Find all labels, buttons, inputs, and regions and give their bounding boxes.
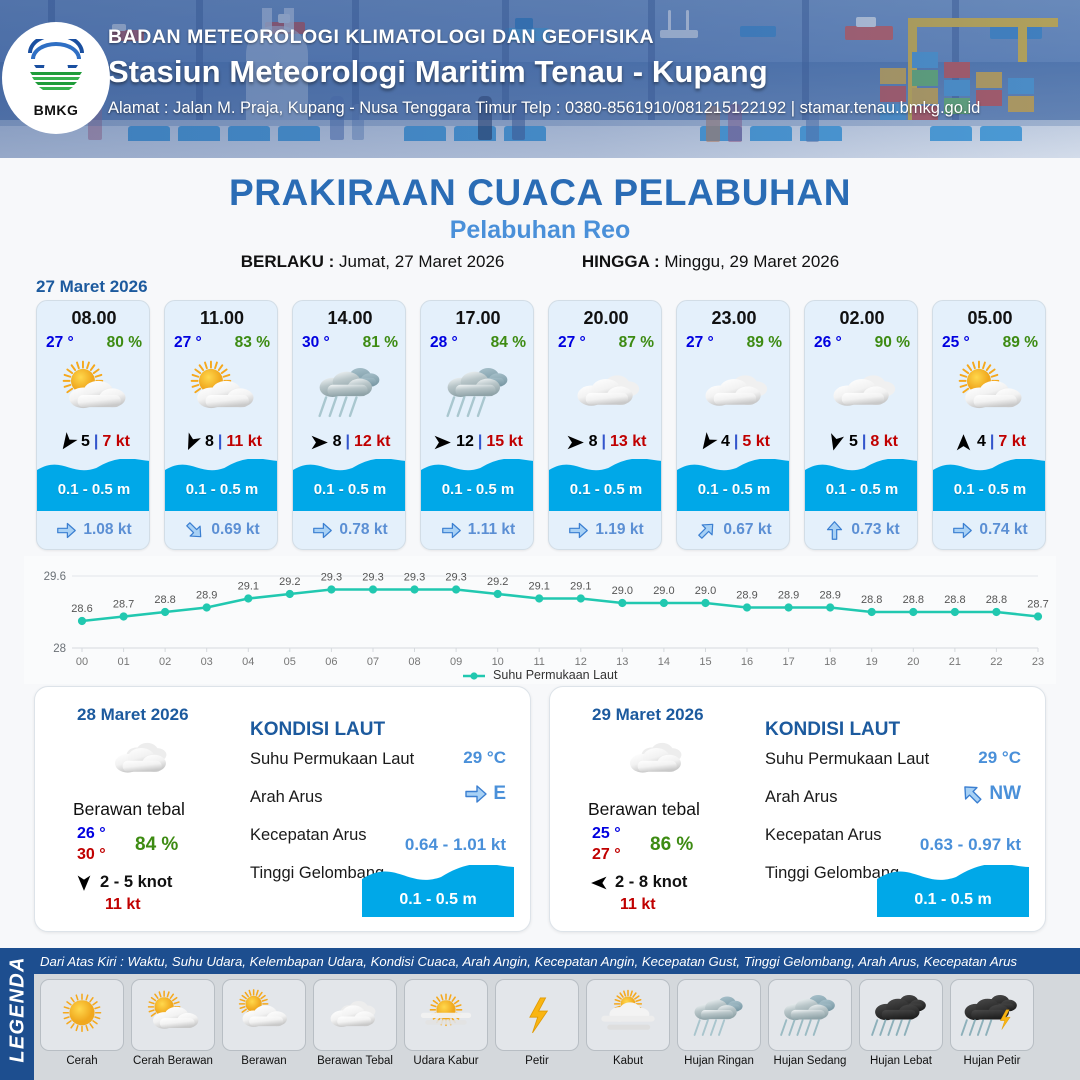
card-current-row: 1.11 kt bbox=[421, 515, 534, 545]
current-direction-arrow-icon bbox=[568, 520, 589, 541]
day-temp-max: 27 ° bbox=[592, 846, 621, 864]
weather-icon-hujan-ringan bbox=[421, 358, 534, 424]
legend-item-label: Berawan bbox=[241, 1055, 286, 1068]
weather-icon-cerah-berawan bbox=[165, 358, 278, 424]
card-humidity: 83 % bbox=[235, 334, 270, 352]
weather-icon-berawan-tebal bbox=[97, 731, 189, 787]
weather-icon-hujan-petir bbox=[950, 979, 1034, 1051]
card-current-row: 1.19 kt bbox=[549, 515, 662, 545]
legend-item-label: Petir bbox=[525, 1055, 549, 1068]
day-condition: Berawan tebal bbox=[588, 799, 768, 820]
weather-icon-kabut bbox=[586, 979, 670, 1051]
svg-text:29.3: 29.3 bbox=[404, 572, 425, 584]
legend-item: Berawan bbox=[222, 979, 306, 1075]
svg-text:05: 05 bbox=[284, 656, 296, 668]
card-current-speed: 0.78 kt bbox=[339, 521, 387, 539]
legend-item: Udara Kabur bbox=[404, 979, 488, 1075]
day-summary-panel: 28 Maret 2026 Berawan tebal 26 ° 30 ° 84… bbox=[34, 686, 531, 932]
svg-text:08: 08 bbox=[408, 656, 420, 668]
card-wave-block: 0.1 - 0.5 m bbox=[549, 459, 662, 511]
weather-icon-berawan bbox=[549, 358, 662, 424]
chart-legend: Suhu Permukaan Laut bbox=[24, 668, 1056, 682]
svg-text:07: 07 bbox=[367, 656, 379, 668]
card-humidity: 89 % bbox=[747, 334, 782, 352]
card-time: 17.00 bbox=[421, 308, 534, 329]
weather-icon-cerah-berawan bbox=[131, 979, 215, 1051]
svg-text:29.0: 29.0 bbox=[653, 585, 674, 597]
card-wave-block: 0.1 - 0.5 m bbox=[805, 459, 918, 511]
card-wind-speed: 8 bbox=[333, 433, 342, 451]
card-separator: | bbox=[601, 433, 605, 451]
svg-text:29.2: 29.2 bbox=[487, 576, 508, 588]
weather-icon-hujan-lebat bbox=[859, 979, 943, 1051]
card-time: 14.00 bbox=[293, 308, 406, 329]
value-current-speed: 0.64 - 1.01 kt bbox=[405, 835, 506, 855]
forecast-date-label: 27 Maret 2026 bbox=[36, 277, 148, 297]
svg-text:28.9: 28.9 bbox=[819, 590, 840, 602]
hourly-forecast-cards: 08.00 27 ° 80 % 5 | 7 kt 0.1 - 0.5 m bbox=[36, 300, 1048, 550]
wind-direction-arrow-icon bbox=[566, 433, 585, 452]
card-gust: 5 kt bbox=[742, 433, 770, 451]
sea-condition-title: KONDISI LAUT bbox=[250, 719, 385, 741]
card-time: 02.00 bbox=[805, 308, 918, 329]
card-wind-speed: 4 bbox=[721, 433, 730, 451]
wind-direction-arrow-icon bbox=[433, 433, 452, 452]
current-direction-text: NW bbox=[989, 783, 1021, 805]
card-wind-row: 5 | 7 kt bbox=[37, 429, 150, 455]
wind-direction-arrow-icon bbox=[698, 433, 717, 452]
card-wind-row: 5 | 8 kt bbox=[805, 429, 918, 455]
svg-text:12: 12 bbox=[575, 656, 587, 668]
card-current-speed: 1.08 kt bbox=[83, 521, 131, 539]
card-temperature: 26 ° bbox=[814, 334, 842, 352]
legend-item: Cerah bbox=[40, 979, 124, 1075]
value-sea-surface-temp: 29 °C bbox=[978, 748, 1021, 768]
day-temp-max: 30 ° bbox=[77, 846, 106, 864]
legend-item: Berawan Tebal bbox=[313, 979, 397, 1075]
card-time: 08.00 bbox=[37, 308, 150, 329]
current-direction-arrow-icon bbox=[960, 782, 984, 806]
validity-row: BERLAKU : Jumat, 27 Maret 2026 HINGGA : … bbox=[0, 252, 1080, 272]
legend-item: Hujan Ringan bbox=[677, 979, 761, 1075]
legend-items: Cerah Cerah Berawan Berawan bbox=[34, 974, 1080, 1080]
svg-text:29.3: 29.3 bbox=[445, 572, 466, 584]
validity-to-value: Minggu, 29 Maret 2026 bbox=[664, 252, 839, 271]
validity-from-value: Jumat, 27 Maret 2026 bbox=[339, 252, 504, 271]
weather-icon-berawan-tebal bbox=[612, 731, 704, 787]
day-wind-row: 2 - 8 knot bbox=[590, 873, 687, 892]
svg-text:29.0: 29.0 bbox=[695, 585, 716, 597]
day-wave-block: 0.1 - 0.5 m bbox=[877, 865, 1029, 917]
card-separator: | bbox=[94, 433, 98, 451]
page-header: BMKG BADAN METEOROLOGI KLIMATOLOGI DAN G… bbox=[0, 0, 1080, 158]
legend-item-label: Hujan Sedang bbox=[774, 1055, 847, 1068]
wind-direction-arrow-icon bbox=[826, 433, 845, 452]
weather-icon-cerah-berawan bbox=[933, 358, 1046, 424]
card-separator: | bbox=[478, 433, 482, 451]
card-wave-block: 0.1 - 0.5 m bbox=[421, 459, 534, 511]
agency-name: BADAN METEOROLOGI KLIMATOLOGI DAN GEOFIS… bbox=[108, 26, 1068, 49]
card-humidity: 89 % bbox=[1003, 334, 1038, 352]
forecast-card: 02.00 26 ° 90 % 5 | 8 kt bbox=[804, 300, 918, 550]
bmkg-logo-mark bbox=[22, 39, 90, 101]
card-humidity: 90 % bbox=[875, 334, 910, 352]
value-sea-surface-temp: 29 °C bbox=[463, 748, 506, 768]
forecast-card: 20.00 27 ° 87 % 8 | 13 kt bbox=[548, 300, 662, 550]
svg-text:00: 00 bbox=[76, 656, 88, 668]
validity-to-label: HINGGA : bbox=[582, 252, 660, 271]
wind-direction-arrow-icon bbox=[58, 433, 77, 452]
svg-text:04: 04 bbox=[242, 656, 254, 668]
svg-text:13: 13 bbox=[616, 656, 628, 668]
card-wind-speed: 8 bbox=[589, 433, 598, 451]
legend-item: Cerah Berawan bbox=[131, 979, 215, 1075]
legend-item-label: Berawan Tebal bbox=[317, 1055, 393, 1068]
svg-text:29.3: 29.3 bbox=[321, 572, 342, 584]
day-wind-range: 2 - 8 knot bbox=[615, 873, 687, 892]
svg-text:17: 17 bbox=[782, 656, 794, 668]
legend-item: Hujan Sedang bbox=[768, 979, 852, 1075]
card-wind-speed: 5 bbox=[81, 433, 90, 451]
svg-text:28.8: 28.8 bbox=[154, 594, 175, 606]
svg-text:29.1: 29.1 bbox=[570, 581, 591, 593]
card-gust: 7 kt bbox=[102, 433, 130, 451]
station-name: Stasiun Meteorologi Maritim Tenau - Kupa… bbox=[108, 54, 1068, 90]
current-direction-arrow-icon bbox=[184, 520, 205, 541]
wind-direction-arrow-icon bbox=[590, 874, 608, 892]
svg-text:02: 02 bbox=[159, 656, 171, 668]
svg-text:28.8: 28.8 bbox=[986, 594, 1007, 606]
card-humidity: 81 % bbox=[363, 334, 398, 352]
label-current-speed: Kecepatan Arus bbox=[765, 826, 882, 845]
card-separator: | bbox=[734, 433, 738, 451]
sea-condition-title: KONDISI LAUT bbox=[765, 719, 900, 741]
card-gust: 8 kt bbox=[870, 433, 898, 451]
legend-item: Petir bbox=[495, 979, 579, 1075]
svg-text:29.6: 29.6 bbox=[44, 571, 66, 583]
weather-icon-cerah bbox=[40, 979, 124, 1051]
card-wind-speed: 5 bbox=[849, 433, 858, 451]
svg-text:28.9: 28.9 bbox=[736, 590, 757, 602]
card-current-row: 1.08 kt bbox=[37, 515, 150, 545]
svg-text:06: 06 bbox=[325, 656, 337, 668]
current-direction-arrow-icon bbox=[464, 782, 488, 806]
card-separator: | bbox=[862, 433, 866, 451]
svg-text:16: 16 bbox=[741, 656, 753, 668]
wind-direction-arrow-icon bbox=[310, 433, 329, 452]
chart-legend-label: Suhu Permukaan Laut bbox=[493, 668, 617, 682]
day-gust: 11 kt bbox=[620, 896, 656, 914]
card-wave-height: 0.1 - 0.5 m bbox=[677, 481, 790, 498]
legend-item-label: Cerah bbox=[66, 1055, 97, 1068]
svg-text:29.1: 29.1 bbox=[528, 581, 549, 593]
weather-icon-hujan-ringan bbox=[677, 979, 761, 1051]
current-direction-arrow-icon bbox=[824, 520, 845, 541]
chart-legend-marker-icon bbox=[463, 671, 485, 681]
card-humidity: 87 % bbox=[619, 334, 654, 352]
card-gust: 12 kt bbox=[354, 433, 390, 451]
label-sea-surface-temp: Suhu Permukaan Laut bbox=[765, 750, 929, 769]
legend-item-label: Hujan Petir bbox=[964, 1055, 1021, 1068]
port-name: Pelabuhan Reo bbox=[0, 216, 1080, 245]
label-current-direction: Arah Arus bbox=[250, 788, 322, 807]
card-wave-height: 0.1 - 0.5 m bbox=[805, 481, 918, 498]
svg-text:01: 01 bbox=[117, 656, 129, 668]
current-direction-arrow-icon bbox=[696, 520, 717, 541]
legend-item-label: Hujan Lebat bbox=[870, 1055, 932, 1068]
svg-text:10: 10 bbox=[492, 656, 504, 668]
station-address: Alamat : Jalan M. Praja, Kupang - Nusa T… bbox=[108, 99, 1068, 118]
card-current-speed: 0.74 kt bbox=[979, 521, 1027, 539]
card-gust: 13 kt bbox=[610, 433, 646, 451]
card-current-speed: 0.67 kt bbox=[723, 521, 771, 539]
value-current-speed: 0.63 - 0.97 kt bbox=[920, 835, 1021, 855]
card-wave-block: 0.1 - 0.5 m bbox=[165, 459, 278, 511]
card-current-speed: 1.19 kt bbox=[595, 521, 643, 539]
card-wave-height: 0.1 - 0.5 m bbox=[37, 481, 150, 498]
current-direction-arrow-icon bbox=[952, 520, 973, 541]
svg-text:29.2: 29.2 bbox=[279, 576, 300, 588]
card-humidity: 80 % bbox=[107, 334, 142, 352]
svg-text:14: 14 bbox=[658, 656, 670, 668]
card-temperature: 27 ° bbox=[686, 334, 714, 352]
weather-icon-berawan bbox=[805, 358, 918, 424]
card-wind-speed: 8 bbox=[205, 433, 214, 451]
weather-icon-berawan-tebal bbox=[313, 979, 397, 1051]
weather-icon-hujan-ringan bbox=[293, 358, 406, 424]
svg-text:28.9: 28.9 bbox=[196, 590, 217, 602]
wind-direction-arrow-icon bbox=[75, 874, 93, 892]
legend-item: Kabut bbox=[586, 979, 670, 1075]
forecast-card: 11.00 27 ° 83 % 8 | 11 kt 0.1 - 0.5 m bbox=[164, 300, 278, 550]
forecast-card: 08.00 27 ° 80 % 5 | 7 kt 0.1 - 0.5 m bbox=[36, 300, 150, 550]
current-direction-arrow-icon bbox=[56, 520, 77, 541]
card-time: 11.00 bbox=[165, 308, 278, 329]
card-temperature: 27 ° bbox=[558, 334, 586, 352]
current-direction-arrow-icon bbox=[312, 520, 333, 541]
svg-text:11: 11 bbox=[533, 656, 544, 668]
card-time: 23.00 bbox=[677, 308, 790, 329]
label-current-direction: Arah Arus bbox=[765, 788, 837, 807]
card-separator: | bbox=[218, 433, 222, 451]
weather-icon-cerah-berawan bbox=[37, 358, 150, 424]
card-current-row: 0.74 kt bbox=[933, 515, 1046, 545]
day-wind-range: 2 - 5 knot bbox=[100, 873, 172, 892]
card-temperature: 30 ° bbox=[302, 334, 330, 352]
svg-text:29.1: 29.1 bbox=[238, 581, 259, 593]
svg-text:23: 23 bbox=[1032, 656, 1044, 668]
card-wave-height: 0.1 - 0.5 m bbox=[933, 481, 1046, 498]
card-wind-row: 4 | 5 kt bbox=[677, 429, 790, 455]
svg-text:28.8: 28.8 bbox=[861, 594, 882, 606]
card-wave-block: 0.1 - 0.5 m bbox=[677, 459, 790, 511]
forecast-card: 14.00 30 ° 81 % 8 | 12 kt bbox=[292, 300, 406, 550]
day-date: 28 Maret 2026 bbox=[77, 705, 189, 725]
svg-text:20: 20 bbox=[907, 656, 919, 668]
label-current-speed: Kecepatan Arus bbox=[250, 826, 367, 845]
card-gust: 15 kt bbox=[486, 433, 522, 451]
card-wind-row: 8 | 13 kt bbox=[549, 429, 662, 455]
sea-surface-temperature-chart: 29.6 28 28.628.728.828.929.129.229.329.3… bbox=[24, 556, 1056, 684]
validity-from-label: BERLAKU : bbox=[241, 252, 335, 271]
current-direction-text: E bbox=[493, 783, 506, 805]
card-current-row: 0.78 kt bbox=[293, 515, 406, 545]
svg-text:21: 21 bbox=[949, 656, 961, 668]
card-wind-speed: 12 bbox=[456, 433, 474, 451]
card-wave-height: 0.1 - 0.5 m bbox=[165, 481, 278, 498]
svg-text:28.7: 28.7 bbox=[1027, 599, 1048, 611]
legend-item: Hujan Petir bbox=[950, 979, 1034, 1075]
card-wave-block: 0.1 - 0.5 m bbox=[293, 459, 406, 511]
weather-icon-berawan-sun bbox=[222, 979, 306, 1051]
card-temperature: 27 ° bbox=[46, 334, 74, 352]
day-temp-min: 25 ° bbox=[592, 825, 621, 843]
card-current-row: 0.67 kt bbox=[677, 515, 790, 545]
card-gust: 7 kt bbox=[998, 433, 1026, 451]
legend-item: Hujan Lebat bbox=[859, 979, 943, 1075]
card-wave-block: 0.1 - 0.5 m bbox=[37, 459, 150, 511]
page-title: PRAKIRAAN CUACA PELABUHAN bbox=[0, 172, 1080, 214]
svg-text:28.8: 28.8 bbox=[903, 594, 924, 606]
label-sea-surface-temp: Suhu Permukaan Laut bbox=[250, 750, 414, 769]
card-current-speed: 0.69 kt bbox=[211, 521, 259, 539]
card-wind-row: 12 | 15 kt bbox=[421, 429, 534, 455]
bmkg-logo-text: BMKG bbox=[34, 102, 79, 118]
legend-item-label: Hujan Ringan bbox=[684, 1055, 754, 1068]
card-time: 05.00 bbox=[933, 308, 1046, 329]
bmkg-logo: BMKG bbox=[2, 22, 110, 134]
wind-direction-arrow-icon bbox=[182, 433, 201, 452]
card-temperature: 28 ° bbox=[430, 334, 458, 352]
card-current-speed: 1.11 kt bbox=[468, 521, 515, 539]
card-gust: 11 kt bbox=[226, 433, 262, 451]
day-wind-row: 2 - 5 knot bbox=[75, 873, 172, 892]
legenda-sidebar: LEGENDA bbox=[0, 948, 34, 1080]
day-humidity: 86 % bbox=[650, 834, 693, 856]
card-current-row: 0.69 kt bbox=[165, 515, 278, 545]
svg-text:18: 18 bbox=[824, 656, 836, 668]
card-temperature: 25 ° bbox=[942, 334, 970, 352]
value-wave-height: 0.1 - 0.5 m bbox=[877, 891, 1029, 909]
svg-text:09: 09 bbox=[450, 656, 462, 668]
forecast-card: 23.00 27 ° 89 % 4 | 5 kt bbox=[676, 300, 790, 550]
day-humidity: 84 % bbox=[135, 834, 178, 856]
card-temperature: 27 ° bbox=[174, 334, 202, 352]
day-date: 29 Maret 2026 bbox=[592, 705, 704, 725]
card-separator: | bbox=[345, 433, 349, 451]
day-condition: Berawan tebal bbox=[73, 799, 253, 820]
card-wave-height: 0.1 - 0.5 m bbox=[293, 481, 406, 498]
weather-icon-udara-kabur bbox=[404, 979, 488, 1051]
legend-note: Dari Atas Kiri : Waktu, Suhu Udara, Kele… bbox=[40, 954, 1076, 969]
svg-text:28: 28 bbox=[53, 643, 66, 655]
card-current-row: 0.73 kt bbox=[805, 515, 918, 545]
svg-text:19: 19 bbox=[866, 656, 878, 668]
day-wave-block: 0.1 - 0.5 m bbox=[362, 865, 514, 917]
wind-direction-arrow-icon bbox=[954, 433, 973, 452]
card-wind-speed: 4 bbox=[977, 433, 986, 451]
weather-icon-petir bbox=[495, 979, 579, 1051]
legend-section: LEGENDA Dari Atas Kiri : Waktu, Suhu Uda… bbox=[0, 948, 1080, 1080]
day-summary-panel: 29 Maret 2026 Berawan tebal 25 ° 27 ° 86… bbox=[549, 686, 1046, 932]
card-wind-row: 4 | 7 kt bbox=[933, 429, 1046, 455]
svg-text:28.6: 28.6 bbox=[71, 603, 92, 615]
card-time: 20.00 bbox=[549, 308, 662, 329]
card-humidity: 84 % bbox=[491, 334, 526, 352]
card-wind-row: 8 | 12 kt bbox=[293, 429, 406, 455]
card-current-speed: 0.73 kt bbox=[851, 521, 899, 539]
card-wave-height: 0.1 - 0.5 m bbox=[549, 481, 662, 498]
svg-text:29.0: 29.0 bbox=[612, 585, 633, 597]
card-separator: | bbox=[990, 433, 994, 451]
card-wave-block: 0.1 - 0.5 m bbox=[933, 459, 1046, 511]
value-current-direction: E bbox=[464, 782, 506, 806]
weather-icon-berawan bbox=[677, 358, 790, 424]
svg-text:28.8: 28.8 bbox=[944, 594, 965, 606]
current-direction-arrow-icon bbox=[441, 520, 462, 541]
svg-text:22: 22 bbox=[990, 656, 1002, 668]
legend-item-label: Cerah Berawan bbox=[133, 1055, 213, 1068]
card-wave-height: 0.1 - 0.5 m bbox=[421, 481, 534, 498]
day-temp-min: 26 ° bbox=[77, 825, 106, 843]
weather-icon-hujan-sedang bbox=[768, 979, 852, 1051]
legend-item-label: Kabut bbox=[613, 1055, 643, 1068]
value-wave-height: 0.1 - 0.5 m bbox=[362, 891, 514, 909]
card-wind-row: 8 | 11 kt bbox=[165, 429, 278, 455]
svg-text:15: 15 bbox=[699, 656, 711, 668]
forecast-card: 17.00 28 ° 84 % 12 | 15 kt bbox=[420, 300, 534, 550]
legenda-label: LEGENDA bbox=[7, 948, 30, 1072]
svg-text:28.9: 28.9 bbox=[778, 590, 799, 602]
svg-text:03: 03 bbox=[201, 656, 213, 668]
svg-text:29.3: 29.3 bbox=[362, 572, 383, 584]
day-gust: 11 kt bbox=[105, 896, 141, 914]
forecast-card: 05.00 25 ° 89 % 4 | 7 kt 0.1 - 0.5 m bbox=[932, 300, 1046, 550]
svg-text:28.7: 28.7 bbox=[113, 599, 134, 611]
value-current-direction: NW bbox=[960, 782, 1021, 806]
legend-item-label: Udara Kabur bbox=[413, 1055, 478, 1068]
